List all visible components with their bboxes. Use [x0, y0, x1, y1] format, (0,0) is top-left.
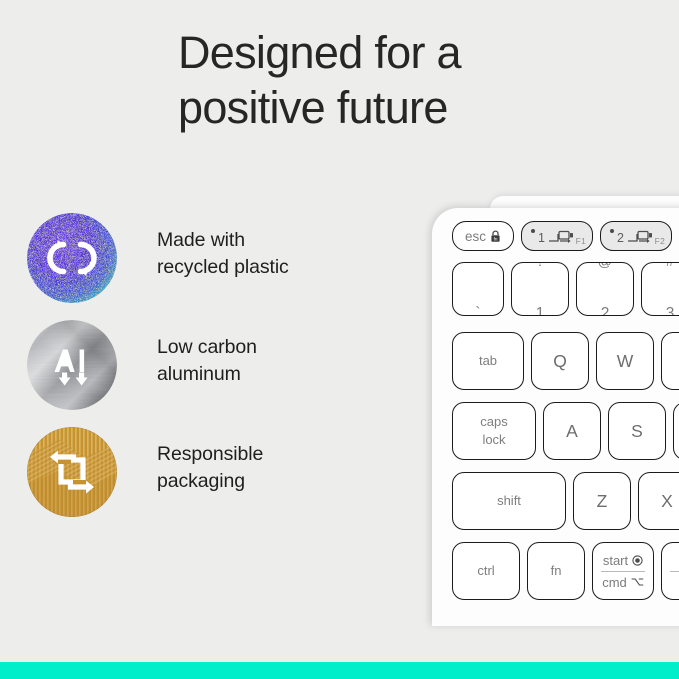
feature-1-line-2: recycled plastic [157, 254, 387, 281]
key-esc[interactable]: esc fn [452, 221, 514, 251]
headline-line-2: positive future [178, 81, 598, 136]
key-start-opt[interactable]: start cmd [592, 542, 654, 600]
key-divider [670, 571, 679, 572]
key-2-shift-label: @ [587, 262, 623, 272]
key-s-label: S [631, 421, 643, 442]
recycled-plastic-icon [27, 213, 117, 303]
feature-1-line-1: Made with [157, 227, 387, 254]
key-cmd-alt[interactable]: cmd alt [661, 542, 679, 600]
key-tilde-base-label: ` [460, 305, 496, 316]
f2-status-dot [610, 229, 614, 233]
accent-bar [0, 662, 679, 679]
keyboard-number-row: ~ ` ! 1 @ 2 # 3 [452, 262, 679, 316]
key-w-label: W [617, 351, 634, 372]
key-f1-fkey-label: F1 [576, 236, 586, 246]
feature-3-line-2: packaging [157, 468, 387, 495]
keyboard-home-row: caps lock A S D [452, 402, 679, 460]
key-e[interactable]: E [661, 332, 679, 390]
key-f2[interactable]: 2 F2 [600, 221, 672, 251]
key-x-label: X [661, 491, 673, 512]
key-opt-label: cmd [602, 575, 627, 590]
key-f2-fkey-label: F2 [655, 236, 665, 246]
key-2[interactable]: @ 2 [576, 262, 634, 316]
windows-start-icon [632, 555, 643, 566]
key-tilde[interactable]: ~ ` [452, 262, 504, 316]
keyboard-function-row: esc fn 1 [452, 221, 679, 251]
responsible-packaging-icon [27, 427, 117, 517]
feature-label: Low carbon aluminum [157, 334, 387, 387]
key-tab-label: tab [479, 353, 497, 368]
f1-status-dot [531, 229, 535, 233]
key-fn[interactable]: fn [527, 542, 585, 600]
svg-text:fn: fn [494, 236, 498, 241]
key-caps-lock-label: caps lock [480, 413, 507, 448]
key-z-label: Z [597, 491, 608, 512]
key-x[interactable]: X [638, 472, 679, 530]
key-2-base-label: 2 [587, 305, 623, 316]
key-q-label: Q [553, 351, 567, 372]
key-divider [601, 571, 644, 572]
key-3[interactable]: # 3 [641, 262, 679, 316]
key-fn-label: fn [551, 563, 562, 578]
keyboard-shift-row: shift Z X [452, 472, 679, 530]
key-z[interactable]: Z [573, 472, 631, 530]
feature-3-line-1: Responsible [157, 441, 387, 468]
feature-label: Made with recycled plastic [157, 227, 387, 280]
key-1[interactable]: ! 1 [511, 262, 569, 316]
list-item: Responsible packaging [0, 427, 400, 534]
key-3-shift-label: # [652, 262, 679, 272]
key-start-label: start [603, 553, 628, 568]
key-ctrl-label: ctrl [477, 563, 494, 578]
key-caps-lock[interactable]: caps lock [452, 402, 536, 460]
key-tab[interactable]: tab [452, 332, 524, 390]
key-tilde-shift-label: ~ [460, 262, 496, 272]
key-d[interactable]: D [673, 402, 679, 460]
low-carbon-aluminum-icon [27, 320, 117, 410]
key-f1[interactable]: 1 F1 [521, 221, 593, 251]
key-f2-channel: 2 [617, 231, 624, 245]
key-a[interactable]: A [543, 402, 601, 460]
lock-icon: fn [490, 230, 501, 243]
key-ctrl[interactable]: ctrl [452, 542, 520, 600]
feature-2-line-1: Low carbon [157, 334, 387, 361]
list-item: Made with recycled plastic [0, 213, 400, 320]
key-3-base-label: 3 [652, 305, 679, 316]
feature-2-line-2: aluminum [157, 361, 387, 388]
list-item: Low carbon aluminum [0, 320, 400, 427]
key-esc-label: esc [465, 229, 486, 244]
feature-label: Responsible packaging [157, 441, 387, 494]
device-switch-icon [548, 230, 574, 247]
key-1-base-label: 1 [522, 305, 558, 316]
keyboard-product-image: esc fn 1 [428, 196, 679, 626]
key-a-label: A [566, 421, 578, 442]
keyboard-modifier-row: ctrl fn start cmd [452, 542, 679, 600]
marketing-panel: Designed for a positive future [0, 0, 679, 679]
option-key-icon [631, 577, 644, 587]
key-1-shift-label: ! [522, 262, 558, 272]
key-q[interactable]: Q [531, 332, 589, 390]
key-shift-label: shift [497, 493, 521, 508]
keyboard-qwerty-row: tab Q W E [452, 332, 679, 390]
key-f1-channel: 1 [538, 231, 545, 245]
sustainability-feature-list: Made with recycled plastic [0, 213, 400, 534]
key-shift[interactable]: shift [452, 472, 566, 530]
page-title: Designed for a positive future [178, 26, 598, 136]
headline-line-1: Designed for a [178, 26, 598, 81]
key-w[interactable]: W [596, 332, 654, 390]
key-s[interactable]: S [608, 402, 666, 460]
device-switch-icon [627, 230, 653, 247]
